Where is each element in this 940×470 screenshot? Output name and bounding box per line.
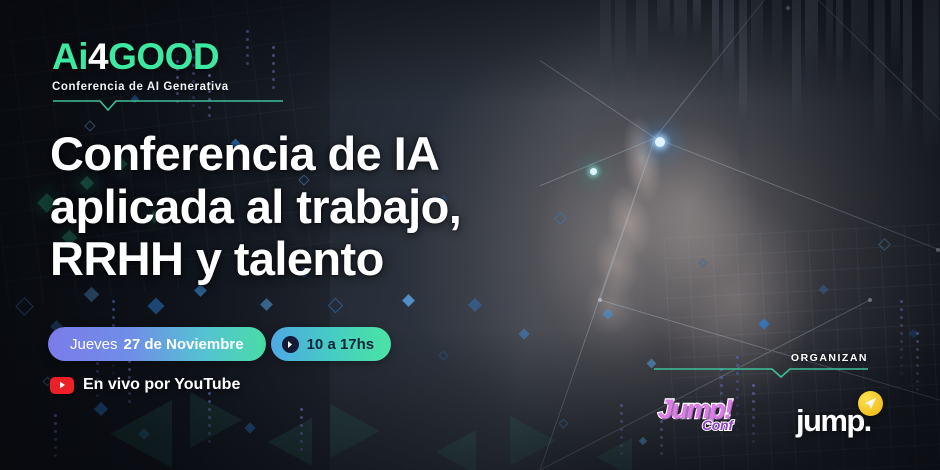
headline-line-1: Conferencia de IA <box>50 128 610 181</box>
date-weekday: Jueves <box>70 336 118 353</box>
event-banner: Ai4GOOD Conferencia de AI Generativa Con… <box>0 0 940 470</box>
youtube-icon <box>50 377 74 394</box>
jump-conf-logo[interactable]: Jump! Conf <box>658 392 770 438</box>
live-stream-info[interactable]: En vivo por YouTube <box>50 376 240 394</box>
time-value: 10 a 17hs <box>307 336 375 353</box>
headline-line-3: RRHH y talento <box>50 233 610 286</box>
organizers-section: ORGANIZAN Jump! Conf jump. <box>654 352 914 438</box>
ai4good-logo: Ai4GOOD Conferencia de AI Generativa <box>52 38 290 117</box>
time-pill[interactable]: 10 a 17hs <box>271 327 392 361</box>
headline-line-2: aplicada al trabajo, <box>50 181 610 234</box>
logo-word-four: 4 <box>88 36 108 77</box>
organizers-underline-bracket <box>654 367 914 379</box>
live-stream-label: En vivo por YouTube <box>83 376 240 394</box>
logo-underline-bracket <box>52 98 284 112</box>
event-schedule: Jueves 27 de Noviembre 10 a 17hs <box>48 327 391 361</box>
page-title: Conferencia de IA aplicada al trabajo, R… <box>50 128 610 286</box>
jump-logo[interactable]: jump. <box>796 392 902 438</box>
logo-subtitle: Conferencia de AI Generativa <box>52 81 290 93</box>
chevron-right-icon <box>282 336 299 353</box>
logo-wordmark: Ai4GOOD <box>52 38 290 75</box>
jump-conf-sub: Conf <box>702 417 733 433</box>
logo-word-ai: Ai <box>52 36 88 77</box>
logo-word-good: GOOD <box>108 36 219 77</box>
date-pill[interactable]: Jueves 27 de Noviembre <box>48 327 266 361</box>
organizers-label: ORGANIZAN <box>654 352 914 364</box>
organizers-logo-row: Jump! Conf jump. <box>654 392 914 438</box>
paper-plane-icon <box>858 391 883 416</box>
date-value: 27 de Noviembre <box>124 336 244 353</box>
